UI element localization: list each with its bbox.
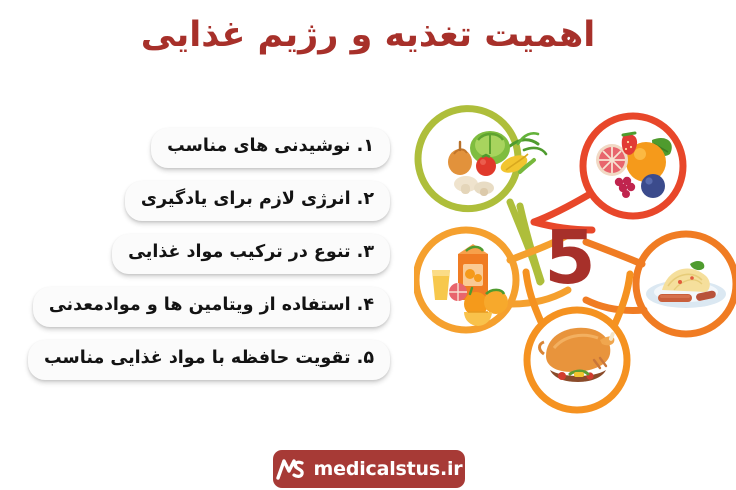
list-item-label: ۴. استفاده از ویتامین ها و موادمعدنی: [49, 293, 374, 318]
page-title: اهمیت تغذیه و رژیم غذایی: [0, 14, 736, 58]
poultry-illustration: [540, 328, 616, 382]
nutrition-points-list: ۱. نوشیدنی های مناسب ۲. انرژی لازم برای …: [0, 128, 390, 380]
list-item-label: ۳. تنوع در ترکیب مواد غذایی: [128, 240, 374, 265]
ns-monogram-icon: [276, 458, 306, 480]
fruits-illustration: [596, 133, 672, 198]
vegetables-illustration: [448, 131, 546, 196]
list-item[interactable]: ۵. تقویت حافظه با مواد غذایی مناسب: [28, 340, 390, 380]
list-item[interactable]: ۱. نوشیدنی های مناسب: [151, 128, 390, 168]
list-item[interactable]: ۳. تنوع در ترکیب مواد غذایی: [112, 234, 390, 274]
list-item-label: ۵. تقویت حافظه با مواد غذایی مناسب: [44, 346, 374, 371]
juice-illustration: [432, 244, 508, 326]
brand-name: medicalstus.ir: [314, 458, 463, 480]
food-groups-graphic: 5: [414, 104, 736, 416]
list-item-label: ۱. نوشیدنی های مناسب: [167, 134, 374, 159]
brand-badge[interactable]: medicalstus.ir: [273, 450, 465, 488]
list-item-label: ۲. انرژی لازم برای یادگیری: [141, 187, 374, 212]
meal-illustration: [646, 261, 726, 308]
list-item[interactable]: ۲. انرژی لازم برای یادگیری: [125, 181, 390, 221]
list-item[interactable]: ۴. استفاده از ویتامین ها و موادمعدنی: [33, 287, 390, 327]
